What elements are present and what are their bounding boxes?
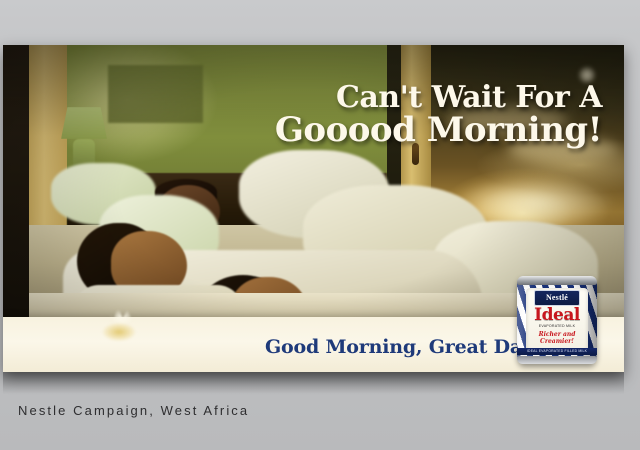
wall-picture	[108, 65, 203, 123]
nestle-logo-badge: Nestlé	[534, 290, 580, 306]
can-label: Nestlé Ideal EVAPORATED MILK Richer and …	[526, 288, 588, 352]
lamp-shade	[61, 107, 107, 139]
product-claim: Richer and Creamier!	[526, 331, 588, 345]
ideal-milk-can: Nestlé Ideal EVAPORATED MILK Richer and …	[517, 276, 597, 364]
page-background: Can't Wait For A Gooood Morning! Good Mo…	[0, 0, 640, 450]
ad-headline: Can't Wait For A Gooood Morning!	[275, 83, 602, 148]
headline-line-1: Can't Wait For A	[275, 83, 602, 112]
can-footer-text: IDEAL EVAPORATED FILLED MILK	[517, 348, 597, 355]
image-caption: Nestle Campaign, West Africa	[18, 403, 249, 418]
can-bottom-rim	[517, 356, 597, 364]
advertisement-artwork: Can't Wait For A Gooood Morning! Good Mo…	[3, 45, 624, 372]
ideal-wordmark: Ideal	[526, 307, 588, 324]
ad-tagline: Good Morning, Great Day!	[265, 336, 541, 358]
can-top-rim	[517, 276, 597, 285]
artwork-drop-shadow	[3, 372, 624, 394]
milk-splash-graphic	[91, 314, 149, 344]
headline-line-2: Gooood Morning!	[275, 114, 602, 147]
